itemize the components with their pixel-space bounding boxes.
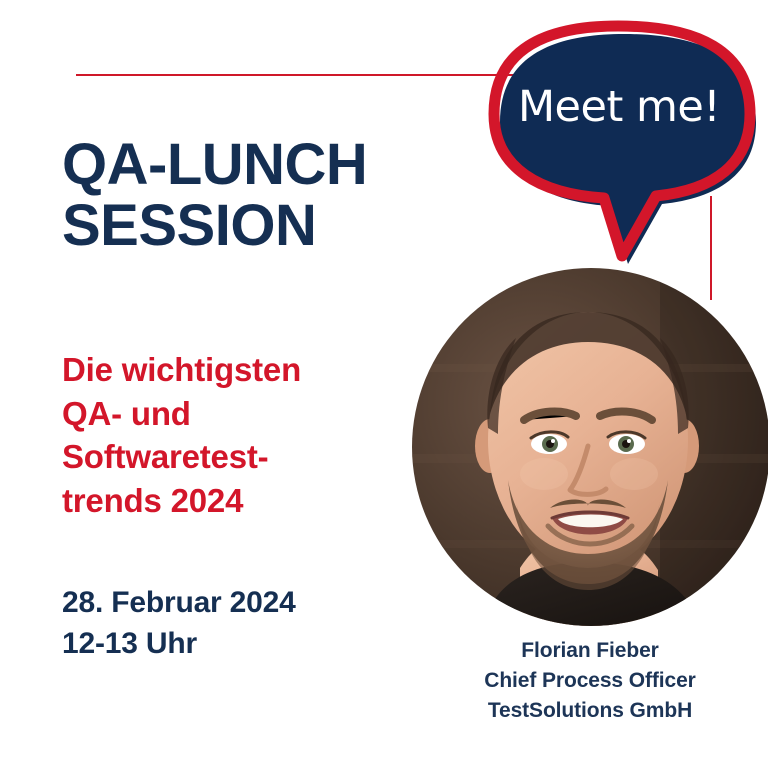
speech-bubble-shape bbox=[488, 14, 766, 264]
speech-bubble: Meet me! bbox=[488, 14, 766, 264]
speaker-photo bbox=[412, 268, 768, 626]
subtitle-line-3: Softwaretest- bbox=[62, 435, 422, 479]
speaker-portrait bbox=[412, 268, 768, 626]
page-title: QA-LUNCH SESSION bbox=[62, 134, 462, 257]
event-datetime: 28. Februar 2024 12-13 Uhr bbox=[62, 582, 442, 665]
event-date: 28. Februar 2024 bbox=[62, 582, 442, 623]
subtitle-line-2: QA- und bbox=[62, 392, 422, 436]
subtitle-line-4: trends 2024 bbox=[62, 479, 422, 523]
subtitle: Die wichtigsten QA- und Softwaretest- tr… bbox=[62, 348, 422, 522]
speaker-name: Florian Fieber bbox=[430, 636, 750, 666]
event-time: 12-13 Uhr bbox=[62, 623, 442, 664]
promo-poster: Meet me! QA-LUNCH SESSION Die wichtigste… bbox=[0, 0, 768, 768]
speaker-company: TestSolutions GmbH bbox=[430, 696, 750, 726]
speaker-credit: Florian Fieber Chief Process Officer Tes… bbox=[430, 636, 750, 725]
headline-line-2: SESSION bbox=[62, 195, 462, 256]
headline-line-1: QA-LUNCH bbox=[62, 134, 462, 195]
speaker-role: Chief Process Officer bbox=[430, 666, 750, 696]
bubble-text: Meet me! bbox=[488, 86, 750, 129]
subtitle-line-1: Die wichtigsten bbox=[62, 348, 422, 392]
speech-bubble-fill bbox=[500, 34, 756, 264]
